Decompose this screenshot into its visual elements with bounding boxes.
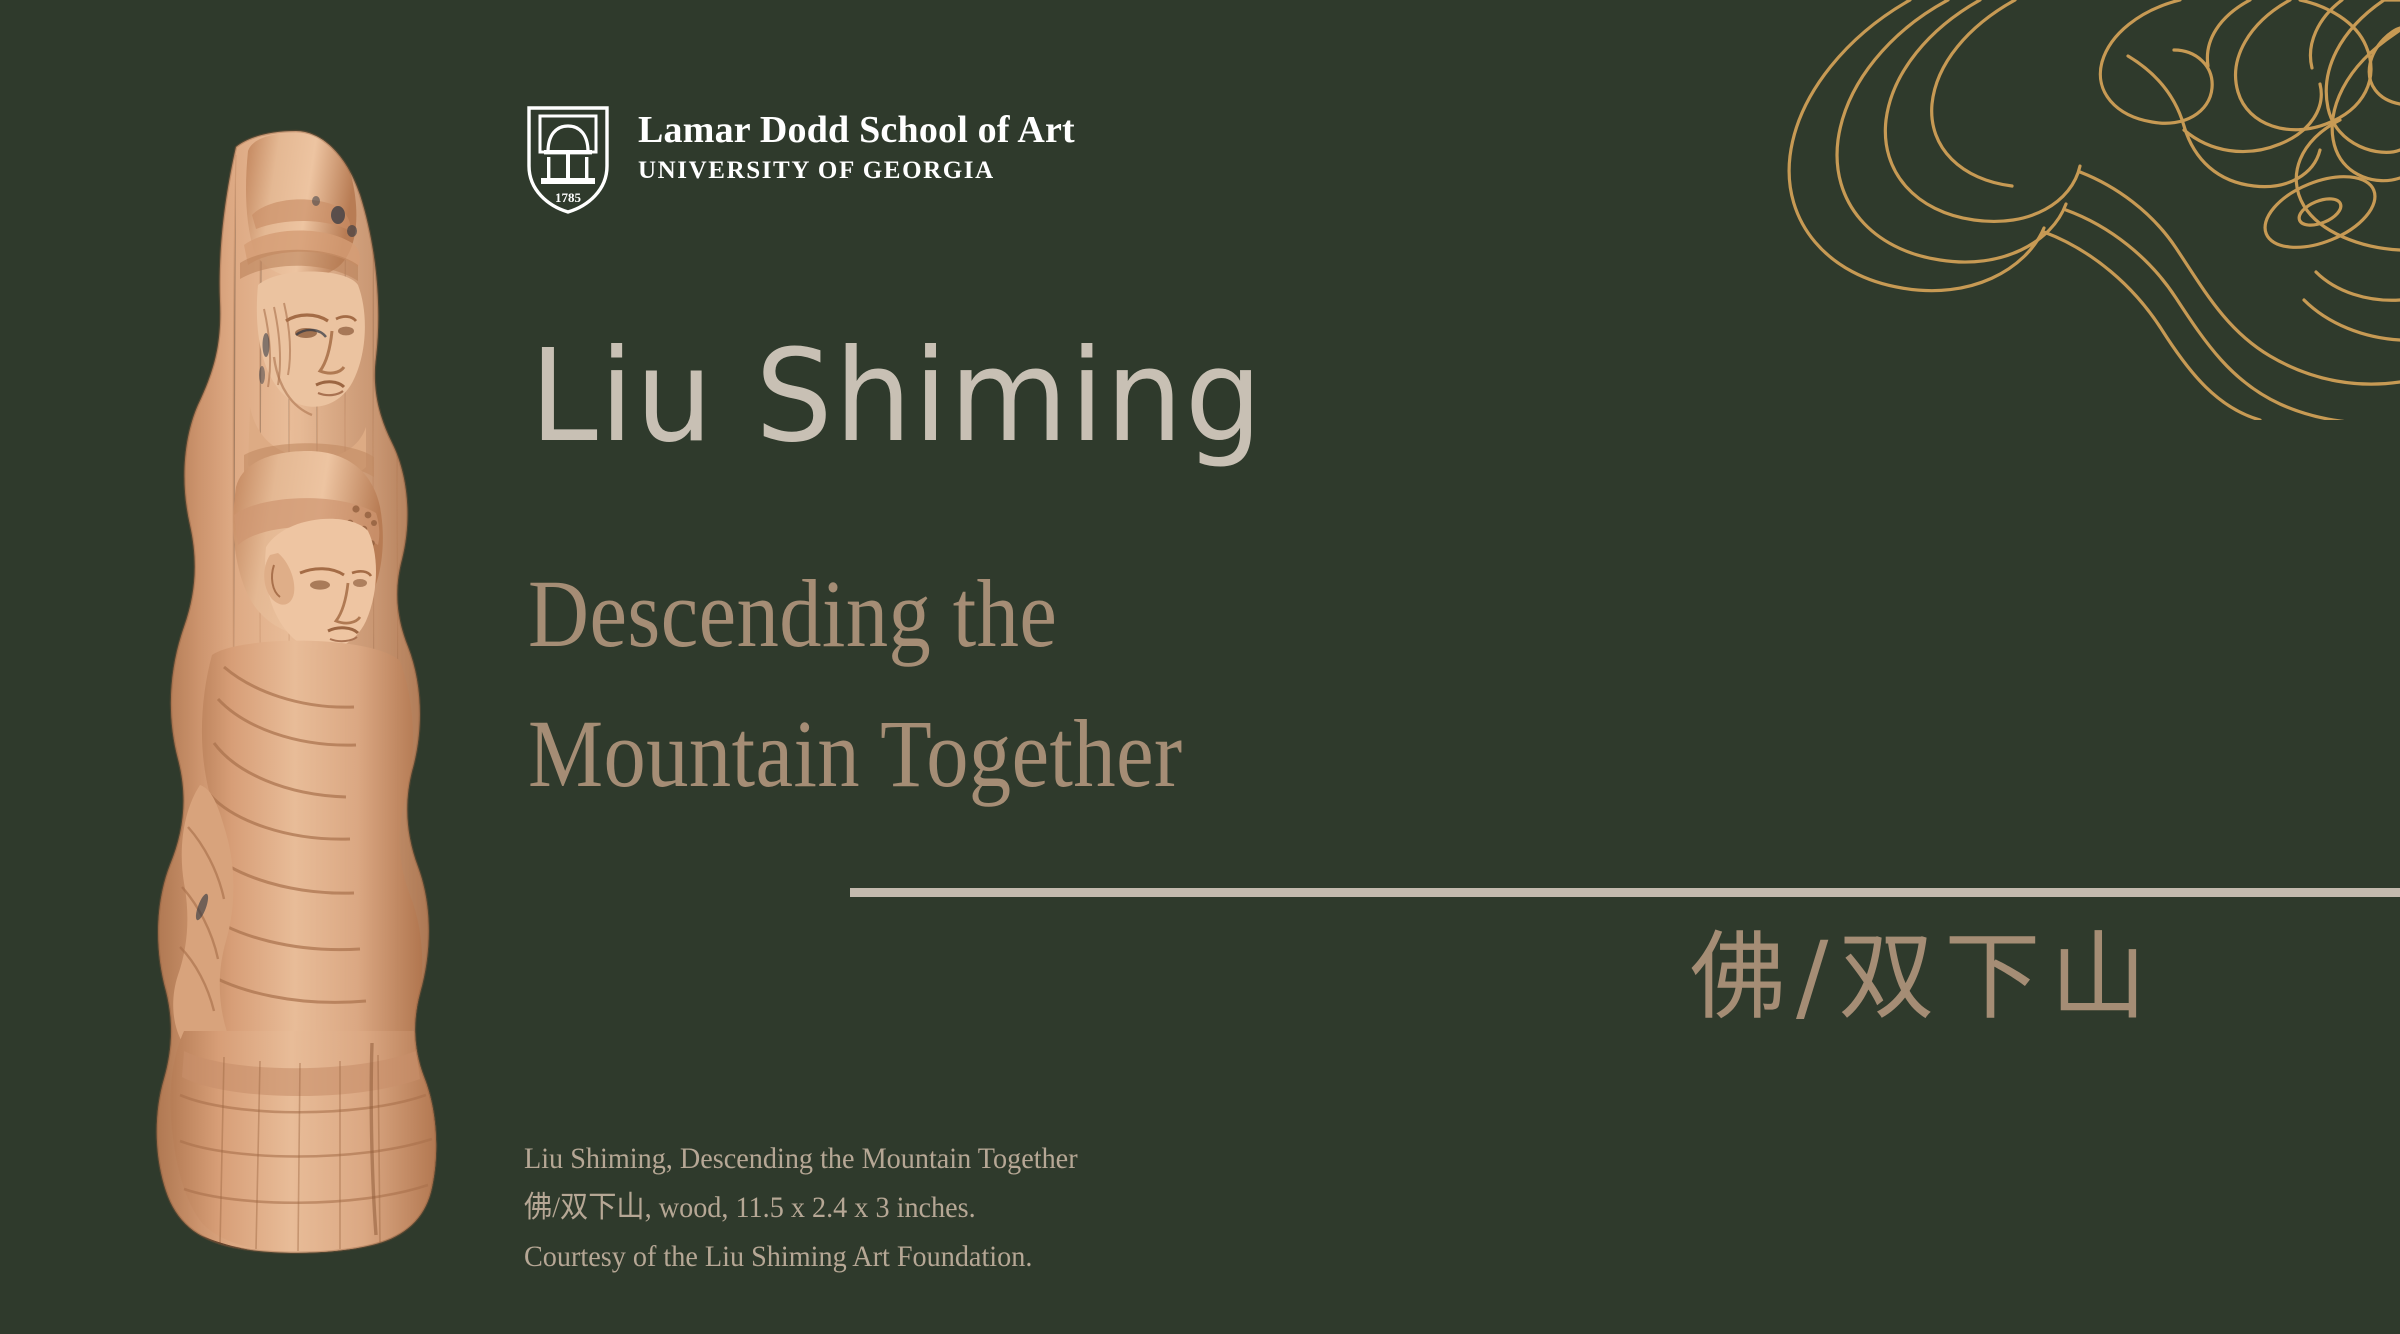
artwork-caption: Liu Shiming, Descending the Mountain Tog… bbox=[524, 1135, 1078, 1282]
caption-line-2: 佛/双下山, wood, 11.5 x 2.4 x 3 inches. bbox=[524, 1184, 1078, 1233]
work-title-heading: Descending the Mountain Together bbox=[528, 565, 1183, 803]
logo-wordmark: Lamar Dodd School of Art UNIVERSITY OF G… bbox=[638, 104, 1075, 185]
uga-lamar-dodd-logo[interactable]: 1785 Lamar Dodd School of Art UNIVERSITY… bbox=[524, 104, 1075, 216]
wooden-sculpture-image bbox=[140, 95, 470, 1285]
logo-school-name: Lamar Dodd School of Art bbox=[638, 110, 1075, 150]
topographic-contour-decoration bbox=[1780, 0, 2400, 420]
uga-arch-shield-icon: 1785 bbox=[524, 104, 612, 216]
shield-year-text: 1785 bbox=[555, 190, 582, 205]
work-title-line-2: Mountain Together bbox=[528, 705, 1183, 803]
work-title-line-1: Descending the bbox=[528, 565, 1183, 663]
horizontal-divider-rule bbox=[850, 888, 2400, 897]
artist-name-heading: Liu Shiming bbox=[530, 332, 1264, 459]
caption-line-1: Liu Shiming, Descending the Mountain Tog… bbox=[524, 1135, 1078, 1184]
logo-university-name: UNIVERSITY OF GEORGIA bbox=[638, 157, 1075, 185]
chinese-work-title: 佛/双下山 bbox=[1690, 922, 2156, 1032]
caption-line-3: Courtesy of the Liu Shiming Art Foundati… bbox=[524, 1233, 1078, 1282]
